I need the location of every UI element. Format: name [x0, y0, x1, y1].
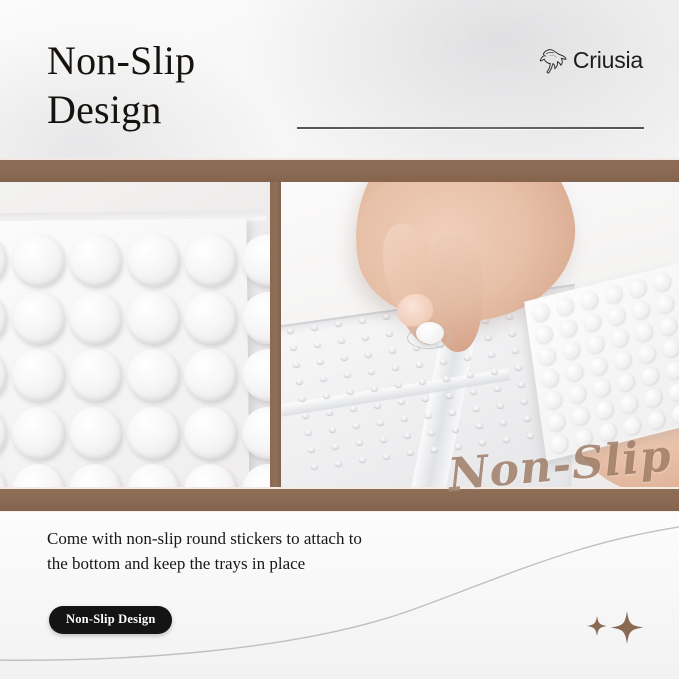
tray-bump [494, 386, 501, 391]
tray-bump [419, 379, 426, 384]
tray-bump [302, 413, 309, 418]
tray-bump [485, 335, 492, 340]
sticker-dot [127, 464, 179, 489]
tray-bump [359, 318, 366, 323]
tray-bump [446, 393, 453, 398]
tray-bump [371, 386, 378, 391]
tray-bump [431, 447, 438, 452]
sticker-dot [127, 234, 179, 286]
held-sheet-dot [537, 346, 556, 367]
held-sheet-dot [531, 302, 550, 323]
held-sheet-dot [564, 362, 583, 383]
held-sheet-dot [613, 350, 632, 371]
held-sheet-dot [658, 316, 677, 337]
sticker-dot [0, 234, 6, 286]
tray-bump [449, 410, 456, 415]
tray-bump [317, 359, 324, 364]
tray-bump [320, 376, 327, 381]
brand-name: Criusia [573, 47, 643, 74]
tray-bump [383, 454, 390, 459]
tray-bump [308, 447, 315, 452]
panel-vertical-divider [270, 182, 281, 489]
tray-bump [329, 427, 336, 432]
held-sheet-dot [534, 324, 553, 345]
tray-bump [503, 437, 510, 442]
held-sheet-dot [631, 300, 650, 321]
held-sheet-dot [652, 272, 671, 293]
tray-bump [368, 369, 375, 374]
tray-bump [287, 328, 294, 333]
tray-bump [314, 342, 321, 347]
sticker-dot [12, 349, 64, 401]
held-sheet-dot [661, 338, 679, 359]
held-sheet-dot [592, 378, 611, 399]
held-sheet-dot [643, 387, 662, 408]
sticker-dot [242, 234, 271, 286]
tray-bump [332, 444, 339, 449]
held-sheet-dot [595, 400, 614, 421]
photo-band [0, 160, 679, 512]
sticker-dot [242, 349, 271, 401]
sticker-dot [0, 407, 6, 459]
tray-bump [491, 369, 498, 374]
held-sheet-dot [616, 372, 635, 393]
sticker-dot [184, 292, 236, 344]
tray-bump [362, 335, 369, 340]
held-sheet-dot [561, 340, 580, 361]
held-sheet-dot [668, 381, 679, 402]
sticker-dot [184, 234, 236, 286]
held-sheet-dot [579, 290, 598, 311]
tray-bump [326, 410, 333, 415]
sparkle-decoration [583, 610, 647, 646]
tray-bump [365, 352, 372, 357]
tray-bump [335, 461, 342, 466]
sparkle-large-icon [611, 611, 644, 644]
photo-right-application [281, 182, 679, 489]
tray-bump [374, 403, 381, 408]
sticker-being-applied [416, 322, 444, 344]
held-sheet-dot [570, 406, 589, 427]
tray-bump [296, 379, 303, 384]
tray-bump [323, 393, 330, 398]
held-sheet-dot [574, 427, 593, 448]
sticker-dot [184, 464, 236, 489]
held-sheet-dot [628, 278, 647, 299]
held-sheet-dot [655, 294, 674, 315]
kangaroo-icon [538, 46, 568, 74]
sticker-dot [184, 407, 236, 459]
held-sheet-dot [607, 306, 626, 327]
sticker-dot [69, 464, 121, 489]
sticker-dot [127, 407, 179, 459]
held-sheet-dot [671, 403, 679, 424]
held-sheet-dot [589, 356, 608, 377]
tray-bump [455, 444, 462, 449]
sticker-dot [69, 234, 121, 286]
held-sheet-dot [604, 284, 623, 305]
held-sheet-dot [558, 318, 577, 339]
held-sheet-dot [640, 366, 659, 387]
held-sheet-dot [610, 328, 629, 349]
tray-bump [488, 352, 495, 357]
sticker-dot-grid [0, 234, 254, 489]
held-sheet-dot [549, 434, 568, 455]
photo-left-sticker-sheet [0, 182, 270, 489]
tray-bump [311, 325, 318, 330]
tray-bump [500, 420, 507, 425]
tray-bump [293, 362, 300, 367]
tray-bump [425, 413, 432, 418]
held-sheet-dot [546, 412, 565, 433]
held-sheet-dot [598, 421, 617, 442]
sticker-dot [127, 292, 179, 344]
held-sheet-dot [555, 296, 574, 317]
tray-bump [311, 464, 318, 469]
tray-bump [416, 362, 423, 367]
tray-bump [497, 403, 504, 408]
sticker-dot [12, 407, 64, 459]
held-sheet-dot [619, 393, 638, 414]
sticker-dot [12, 464, 64, 489]
sticker-dot [12, 234, 64, 286]
tray-bump [440, 359, 447, 364]
sticker-dot [242, 407, 271, 459]
status-badge: Non-Slip Design [49, 606, 172, 634]
held-sheet-dot [646, 409, 665, 430]
held-sheet-dot [586, 334, 605, 355]
sticker-dot [242, 292, 271, 344]
sticker-dot [12, 292, 64, 344]
product-infographic: Non-Slip Design Criusia [0, 0, 679, 679]
band-border-top [0, 160, 679, 182]
held-sheet-dot [582, 312, 601, 333]
held-sheet-dot [543, 390, 562, 411]
tray-bump [443, 376, 450, 381]
sticker-dot [69, 407, 121, 459]
sticker-dot [242, 464, 271, 489]
tray-bump [299, 396, 306, 401]
title-divider-rule [297, 127, 644, 129]
sticker-dot [184, 349, 236, 401]
tray-bump [377, 420, 384, 425]
held-sheet-dot [637, 344, 656, 365]
held-sheet-dot [622, 415, 641, 436]
tray-bump [422, 396, 429, 401]
header: Non-Slip Design Criusia [0, 0, 679, 160]
sticker-dot [127, 349, 179, 401]
page-title: Non-Slip Design [47, 36, 195, 134]
sticker-dot [0, 464, 6, 489]
held-sheet-dot [634, 322, 653, 343]
sticker-dot [69, 292, 121, 344]
held-sheet-dot [664, 359, 679, 380]
sticker-dot [0, 292, 6, 344]
tray-bump [452, 427, 459, 432]
held-sheet-dot [540, 368, 559, 389]
tray-bump [380, 437, 387, 442]
brand-logo: Criusia [538, 46, 643, 74]
tray-bump [428, 430, 435, 435]
tray-bump [290, 345, 297, 350]
caption-text: Come with non-slip round stickers to att… [47, 526, 362, 576]
band-border-bottom [0, 489, 679, 511]
tray-bump [305, 430, 312, 435]
held-sheet-dot [567, 384, 586, 405]
sparkle-small-icon [587, 616, 607, 636]
footer: Come with non-slip round stickers to att… [0, 512, 679, 679]
sticker-dot [69, 349, 121, 401]
sticker-dot [0, 349, 6, 401]
